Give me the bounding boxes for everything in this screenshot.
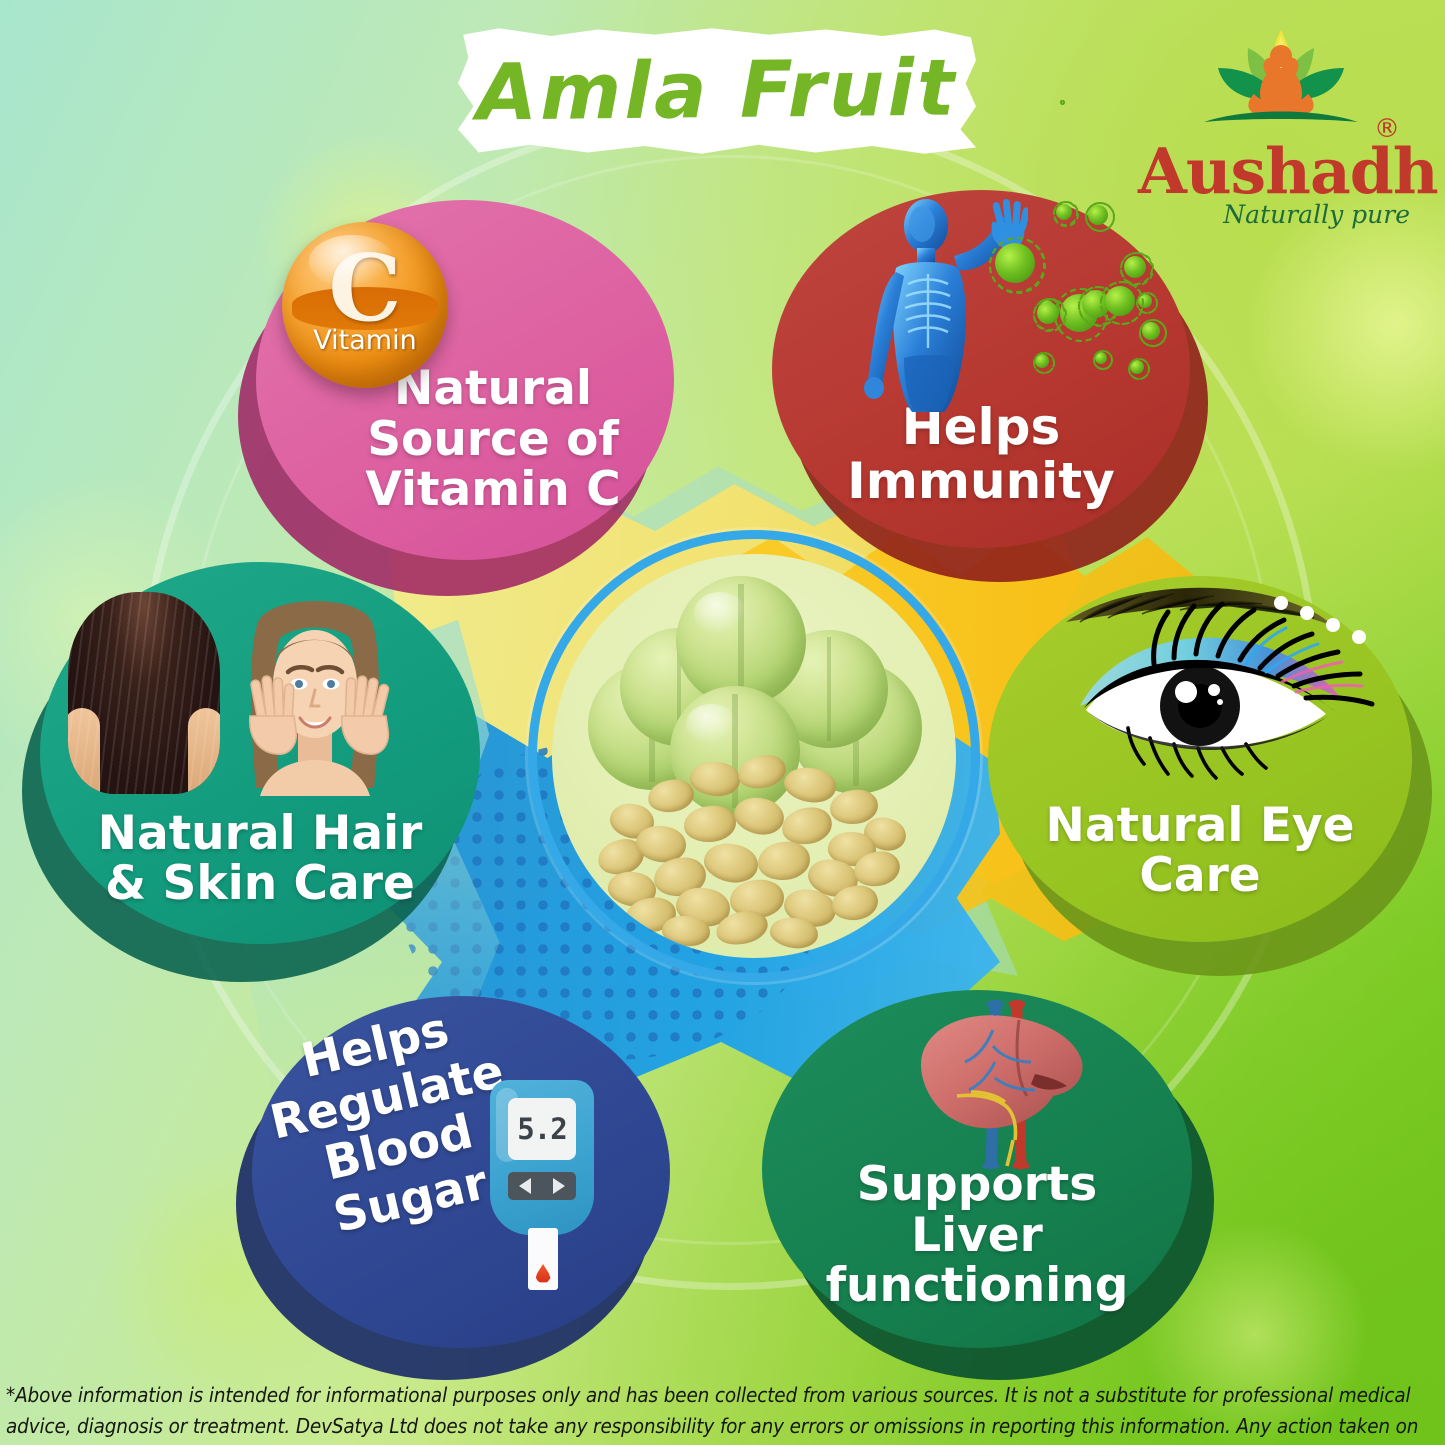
virus-particle-icon xyxy=(1060,100,1061,101)
virus-particle-icon xyxy=(1095,352,1107,364)
glucometer-icon: 5.2 xyxy=(484,1080,602,1290)
glucometer-screen: 5.2 xyxy=(508,1098,576,1160)
page-title: Amla Fruit xyxy=(457,24,976,157)
liver-anatomy-icon xyxy=(895,1000,1095,1170)
lotus-yoga-icon xyxy=(1196,22,1366,140)
benefit-label-hair-skin: Natural Hair & Skin Care xyxy=(76,809,445,911)
benefit-line: Immunity xyxy=(847,454,1115,508)
benefit-line: & Skin Care xyxy=(98,859,423,910)
vitamin-c-sphere-icon: C Vitamin xyxy=(282,222,448,388)
benefit-label-eye-care: Natural Eye Care xyxy=(1024,801,1377,903)
virus-particle-icon xyxy=(1124,256,1146,278)
virus-particle-icon xyxy=(1088,205,1108,225)
logo-brand-name: Aushadh xyxy=(1138,134,1408,208)
human-body-virus-defense-icon xyxy=(862,198,1028,428)
vitamin-word: Vitamin xyxy=(313,325,416,356)
hair-strand-texture xyxy=(68,592,220,794)
sparkle-dot xyxy=(1274,596,1288,610)
hair-and-face-photo-icon xyxy=(222,588,408,798)
disclaimer-text: *Above information is intended for infor… xyxy=(6,1380,1439,1445)
virus-particle-icon xyxy=(1142,322,1160,340)
virus-particle-icon xyxy=(1130,360,1144,374)
sparkle-dot xyxy=(1352,630,1366,644)
arrow-left-icon[interactable] xyxy=(519,1178,531,1194)
virus-particle-icon xyxy=(995,243,1035,283)
long-hair-photo-icon xyxy=(68,592,220,794)
virus-particle-icon xyxy=(1056,204,1072,220)
logo-tagline: Naturally pure xyxy=(1138,200,1414,229)
benefit-line: Care xyxy=(1046,851,1355,902)
arrow-right-icon[interactable] xyxy=(553,1178,565,1194)
benefit-line: Source of xyxy=(365,415,620,466)
benefit-line: Natural Hair xyxy=(98,809,423,860)
virus-particle-icon xyxy=(1035,354,1049,368)
center-medallion-ring xyxy=(528,530,980,982)
sphere-gloss xyxy=(309,235,395,288)
eye-makeup-icon xyxy=(1050,578,1386,802)
glucometer-reading: 5.2 xyxy=(517,1112,566,1146)
sparkle-dot xyxy=(1326,618,1340,632)
benefit-line: Natural Eye xyxy=(1046,801,1355,852)
benefit-label-liver: Supports Liver functioning xyxy=(762,1160,1192,1312)
benefit-line: functioning xyxy=(784,1261,1170,1312)
sparkle-dot xyxy=(1300,606,1314,620)
glucometer-buttons[interactable] xyxy=(508,1172,576,1200)
virus-particle-icon xyxy=(1105,286,1135,316)
brand-logo: Aushadh ® Naturally pure xyxy=(1138,22,1428,228)
virus-particle-icon xyxy=(1037,302,1059,324)
test-strip xyxy=(528,1228,558,1290)
blood-drop-icon xyxy=(536,1264,551,1283)
infographic-poster: Amla Fruit Aushadh ® Naturally xyxy=(0,0,1445,1445)
benefit-line: Supports Liver xyxy=(784,1160,1170,1262)
benefit-label-vitamin-c: Natural Source of Vitamin C xyxy=(343,364,642,516)
benefit-line: Vitamin C xyxy=(365,465,620,516)
registered-trademark-icon: ® xyxy=(1374,114,1400,144)
